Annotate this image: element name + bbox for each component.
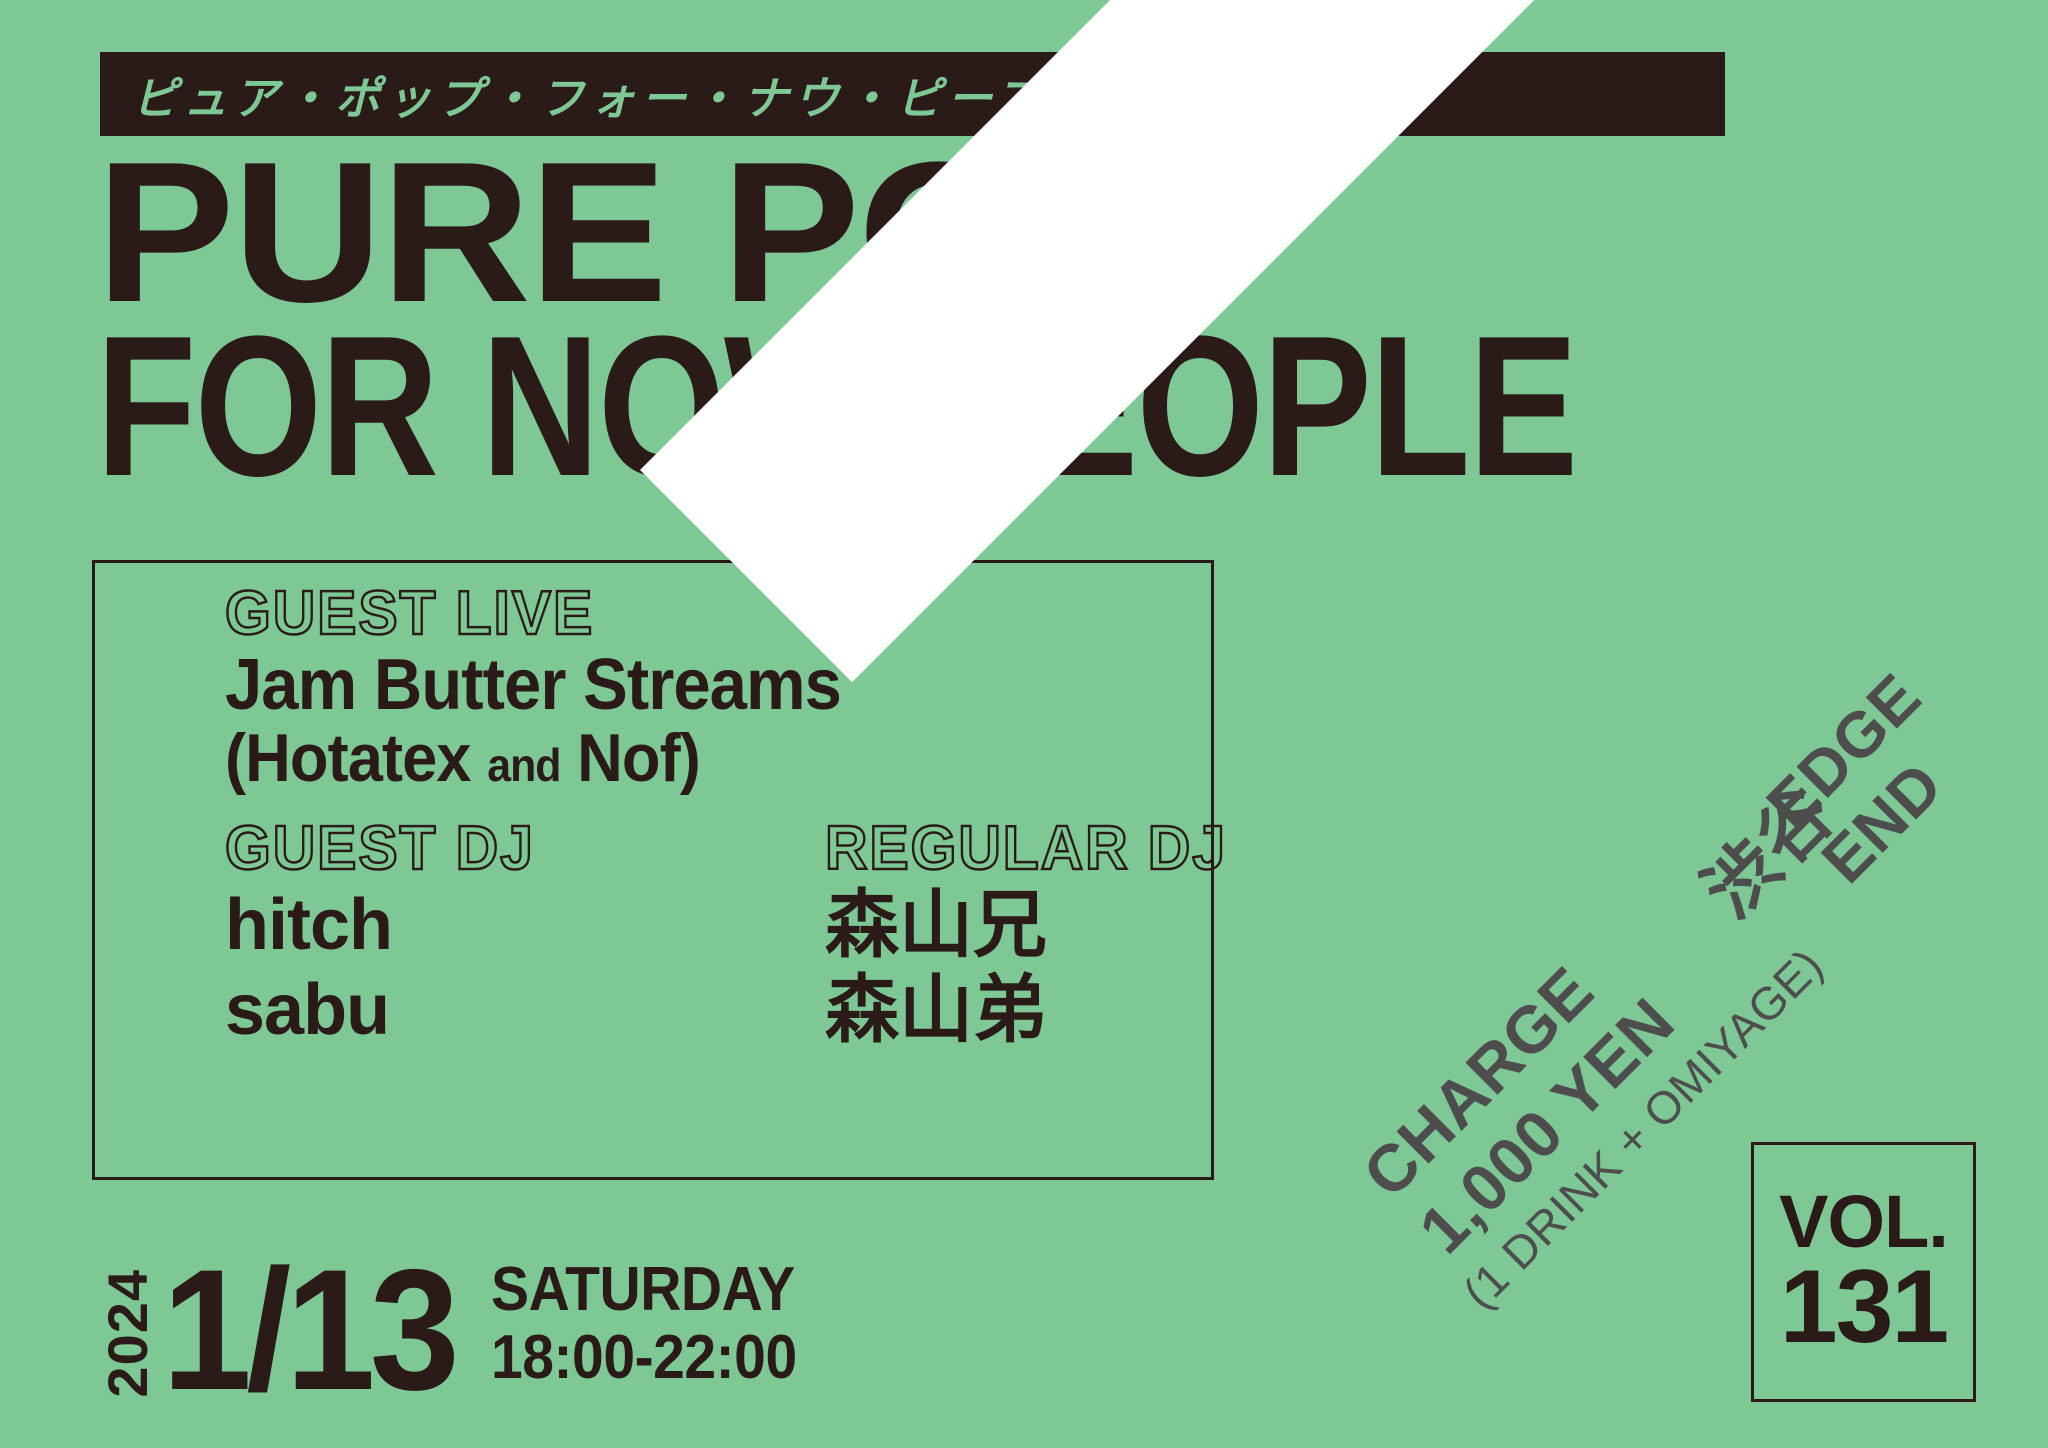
volume-label: VOL. — [1779, 1187, 1948, 1257]
volume-badge: VOL. 131 — [1751, 1142, 1976, 1402]
diagonal-text-layer: 渋谷 EDGE END CHARGE 1,000 YEN (1 DRINK + … — [0, 0, 2048, 1448]
event-flyer: ピュア・ポップ・フォー・ナウ・ピープル PURE POP FOR NOW PEO… — [0, 0, 2048, 1448]
volume-number: 131 — [1780, 1258, 1948, 1357]
